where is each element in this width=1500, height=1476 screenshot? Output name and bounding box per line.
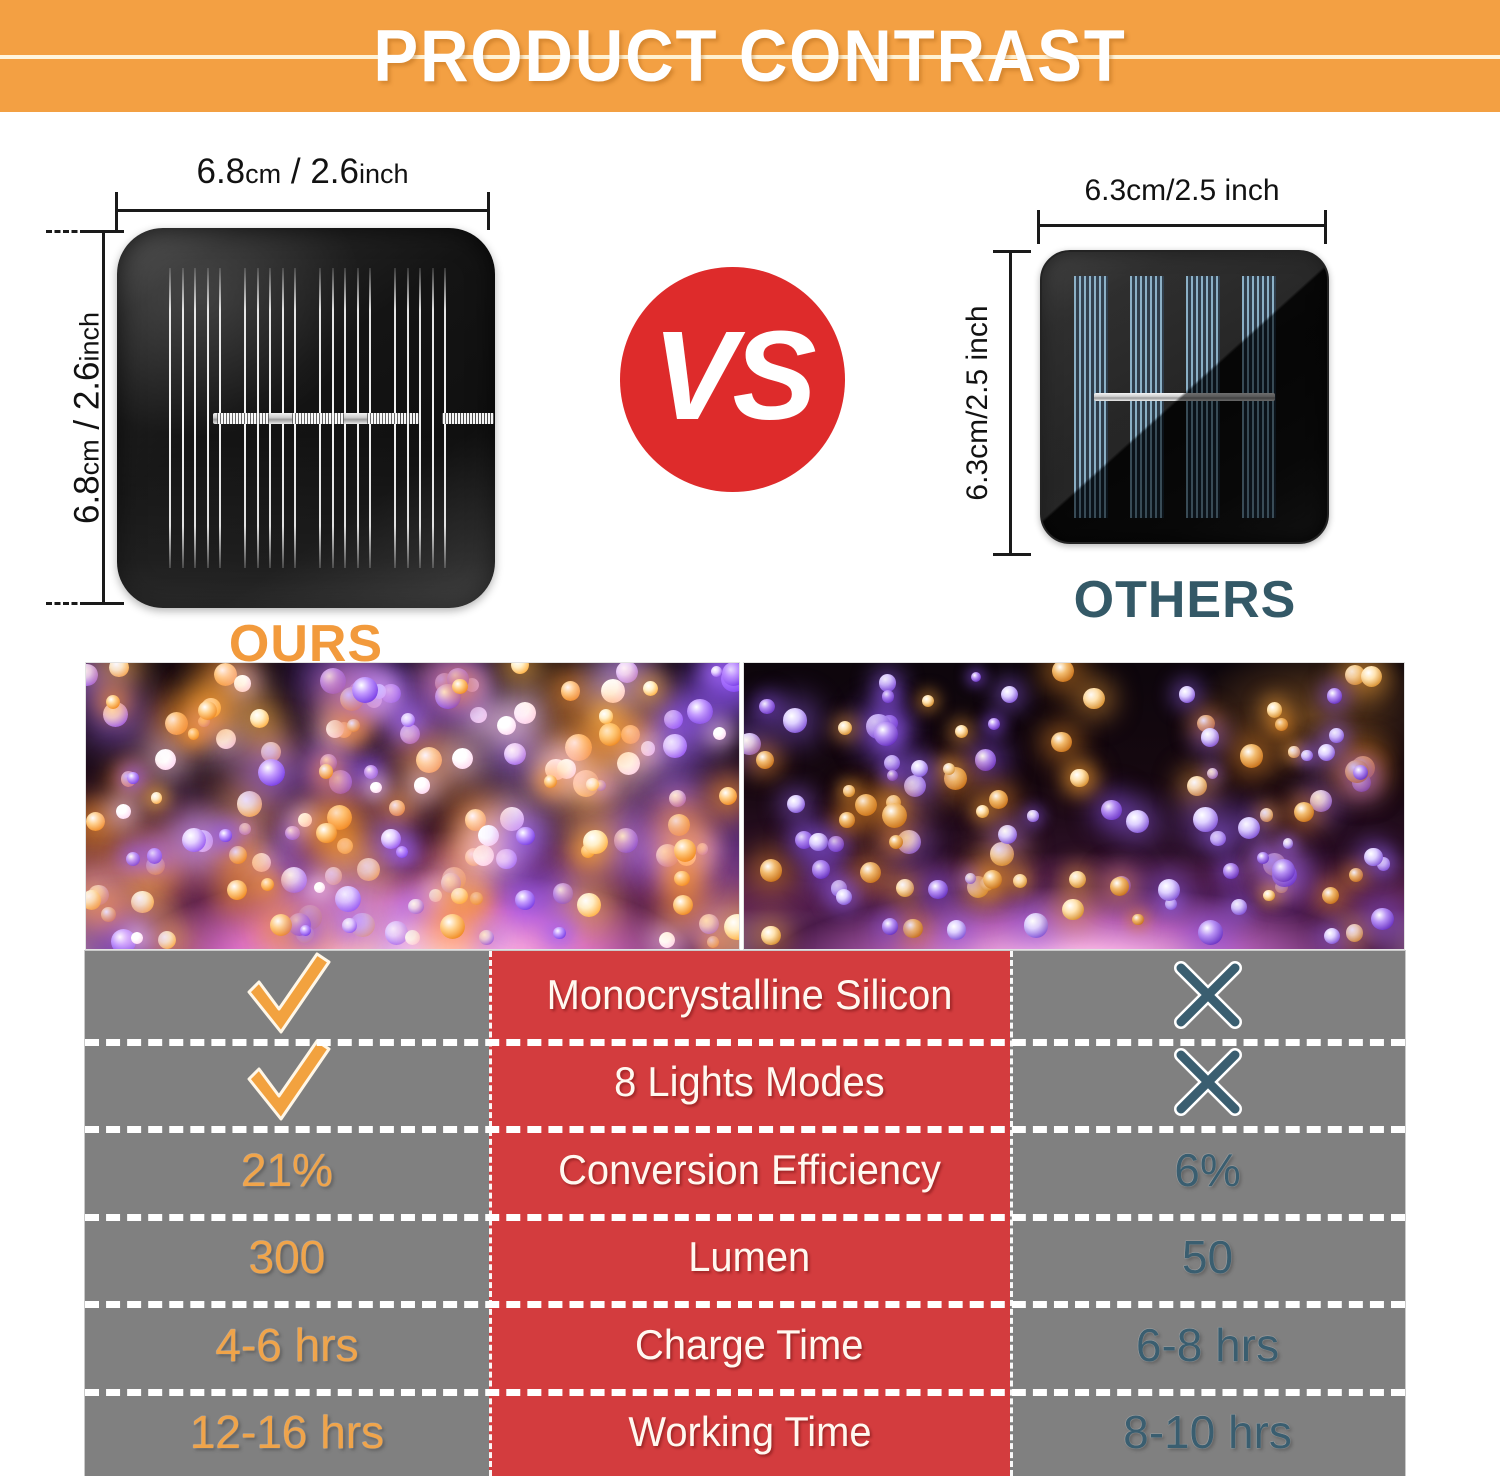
led-bulb	[1069, 871, 1086, 888]
ours-busbar	[213, 413, 399, 424]
feature-cell: 8 Lights Modes	[489, 1039, 1010, 1127]
led-bulb	[1101, 800, 1121, 820]
ours-panel-block: 6.8cm / 2.6inch 6.8cm / 2.6inch	[60, 142, 530, 662]
table-row-divider	[85, 1039, 1405, 1046]
feature-cell: Conversion Efficiency	[489, 1126, 1010, 1214]
led-bulb	[1349, 868, 1363, 882]
led-bulb	[643, 681, 658, 696]
led-bulb	[1238, 817, 1260, 839]
led-bulb	[988, 718, 1000, 730]
header-banner: PRODUCT CONTRAST	[0, 0, 1500, 112]
feature-cell: Lumen	[489, 1214, 1010, 1302]
led-bulb	[674, 839, 696, 861]
led-bulb	[335, 886, 361, 912]
others-cell	[1010, 951, 1405, 1039]
led-bulb	[904, 775, 926, 797]
table-row-divider	[85, 1214, 1405, 1221]
led-bulb	[838, 721, 852, 735]
led-bulb	[998, 825, 1017, 844]
table-row-divider	[85, 1301, 1405, 1308]
led-bulb	[452, 679, 467, 694]
led-bulb	[1062, 899, 1083, 920]
led-bulb	[812, 860, 831, 879]
led-bulb	[989, 790, 1008, 809]
ours-height-cm-unit: cm	[75, 439, 105, 475]
led-bulb	[1083, 688, 1104, 709]
led-bulb	[85, 890, 101, 910]
ours-lights-photo	[85, 662, 740, 950]
others-width-tick-right	[1324, 210, 1327, 244]
led-bulb	[707, 936, 719, 948]
ours-width-inch-unit: inch	[359, 159, 409, 189]
table-row-divider	[85, 1389, 1405, 1396]
ours-width-inch-value: 2.6	[310, 152, 359, 191]
led-bulb	[188, 728, 200, 740]
led-bulb	[557, 759, 577, 779]
led-bulb	[337, 838, 353, 854]
feature-label: Lumen	[688, 1233, 810, 1281]
led-bulb	[719, 787, 737, 805]
led-bulb	[85, 664, 98, 686]
ours-busbar-seg-4	[442, 413, 494, 424]
led-bulb	[86, 812, 105, 831]
led-bulb	[126, 852, 140, 866]
led-bulb	[1272, 859, 1295, 882]
led-bulb	[601, 679, 625, 703]
led-bulb	[281, 867, 307, 893]
led-bulb	[325, 867, 343, 885]
ours-width-slash: /	[281, 152, 310, 191]
led-bulb	[1024, 913, 1048, 937]
table-row: 4-6 hrsCharge Time6-8 hrs	[85, 1301, 1405, 1389]
led-bulb	[400, 724, 420, 744]
ours-value: 12-16 hrs	[190, 1405, 384, 1459]
led-bulb	[1267, 702, 1282, 717]
led-bulb	[990, 842, 1014, 866]
led-bulb	[1283, 838, 1293, 848]
others-cell: 8-10 hrs	[1010, 1389, 1405, 1476]
led-bulb	[1070, 769, 1089, 788]
led-bulb	[1126, 810, 1149, 833]
led-bulb	[158, 931, 176, 949]
led-bulb	[544, 775, 557, 788]
led-bulb	[229, 846, 247, 864]
led-bulb	[553, 883, 574, 904]
led-bulb	[516, 827, 535, 846]
led-bulb	[884, 755, 900, 771]
led-bulb	[1231, 899, 1246, 914]
cross-icon	[1172, 1046, 1244, 1118]
ours-width-tick-right	[487, 192, 490, 230]
led-bulb	[165, 712, 188, 735]
led-bulb	[364, 765, 379, 780]
led-bulb	[896, 879, 914, 897]
ours-busbar-seg-3	[367, 413, 419, 424]
led-bulb	[147, 848, 162, 863]
led-bulb	[216, 729, 236, 749]
led-bulb	[724, 914, 740, 940]
led-bulb	[319, 764, 333, 778]
feature-cell: Monocrystalline Silicon	[489, 951, 1010, 1039]
led-bulb	[971, 672, 981, 682]
led-bulb	[761, 926, 781, 946]
led-bulb	[155, 749, 177, 771]
led-bulb	[983, 870, 1002, 889]
others-width-tick-left	[1037, 210, 1040, 244]
led-bulb	[1327, 688, 1342, 703]
others-photo-bulbs	[744, 663, 1404, 949]
led-bulb	[227, 880, 247, 900]
ours-solar-panel	[117, 228, 495, 608]
led-bulb	[836, 889, 852, 905]
led-bulb	[342, 918, 357, 933]
led-bulb	[1027, 810, 1038, 821]
table-row: Monocrystalline Silicon	[85, 951, 1405, 1039]
others-width-line	[1037, 224, 1327, 227]
led-bulb	[809, 833, 828, 852]
led-bulb	[1052, 662, 1074, 682]
ours-cell: 21%	[85, 1126, 489, 1214]
table-row-divider	[85, 1126, 1405, 1133]
led-bulb	[381, 829, 400, 848]
led-bulb	[270, 914, 292, 936]
led-bulb	[583, 830, 607, 854]
led-bulb	[1346, 924, 1364, 942]
ours-width-dimension: 6.8cm / 2.6inch	[115, 152, 490, 230]
table-row: 12-16 hrsWorking Time8-10 hrs	[85, 1389, 1405, 1476]
led-bulb	[955, 725, 969, 739]
ours-value: 300	[249, 1230, 326, 1284]
others-value: 6%	[1174, 1143, 1240, 1197]
led-bulb	[316, 823, 337, 844]
led-bulb	[1240, 744, 1263, 767]
others-cell	[1010, 1039, 1405, 1127]
led-bulb	[1223, 863, 1239, 879]
led-bulb	[663, 734, 686, 757]
led-bulb	[860, 862, 881, 883]
led-bulb	[451, 888, 468, 905]
led-bulb	[687, 699, 712, 724]
led-bulb	[1201, 728, 1219, 746]
ours-height-dimension: 6.8cm / 2.6inch	[60, 230, 120, 605]
others-cell: 50	[1010, 1214, 1405, 1302]
others-width-dimension-label: 6.3cm/2.5 inch	[1007, 174, 1357, 208]
led-bulb	[198, 701, 217, 720]
led-bulb	[887, 770, 898, 781]
led-bulb	[697, 843, 709, 855]
led-bulb	[234, 675, 250, 691]
led-bulb	[674, 871, 689, 886]
ours-cell: 4-6 hrs	[85, 1301, 489, 1389]
others-solar-panel	[1040, 250, 1329, 544]
led-bulb	[561, 681, 580, 700]
led-bulb	[237, 791, 262, 816]
led-bulb	[515, 890, 535, 910]
led-bulb	[599, 709, 614, 724]
feature-cell: Working Time	[489, 1389, 1010, 1476]
led-bulb	[673, 895, 693, 915]
led-bulb	[416, 747, 442, 773]
led-bulb	[470, 892, 483, 905]
led-bulb	[127, 772, 138, 783]
led-bulb	[1361, 666, 1382, 687]
ours-width-tick-left	[115, 192, 118, 230]
led-bulb	[1179, 686, 1195, 702]
led-bulb	[1288, 746, 1299, 757]
feature-label: Monocrystalline Silicon	[547, 971, 953, 1019]
led-bulb	[250, 709, 269, 728]
others-height-tick-bottom	[993, 553, 1031, 556]
led-bulb	[396, 846, 408, 858]
ours-value: 4-6 hrs	[215, 1318, 358, 1372]
led-bulb	[473, 845, 494, 866]
led-bulb	[760, 859, 783, 882]
led-bulb	[109, 662, 129, 677]
led-bulb	[414, 777, 431, 794]
ours-busbar-seg-2	[292, 413, 344, 424]
led-bulb	[408, 899, 423, 914]
check-icon	[241, 1039, 333, 1125]
table-row: 8 Lights Modes	[85, 1039, 1405, 1127]
vs-badge: VS	[620, 267, 845, 492]
led-bulb	[1371, 908, 1393, 930]
feature-label: Conversion Efficiency	[558, 1146, 941, 1194]
led-bulb	[659, 932, 675, 948]
ours-value: 21%	[241, 1143, 333, 1197]
led-bulb	[440, 914, 465, 939]
led-bulb	[577, 893, 601, 917]
led-bulb	[131, 891, 153, 913]
led-bulb	[783, 708, 808, 733]
led-bulb	[514, 702, 536, 724]
led-bulb	[357, 858, 379, 880]
led-bulb	[759, 699, 775, 715]
others-busbar	[1094, 393, 1275, 401]
ours-cell	[85, 951, 489, 1039]
led-bulb	[1329, 728, 1344, 743]
led-bulb	[699, 914, 719, 934]
ours-height-slash: /	[68, 410, 107, 439]
led-bulb	[617, 752, 641, 776]
led-bulb	[1275, 718, 1288, 731]
led-bulb	[843, 785, 854, 796]
ours-photo-bulbs	[86, 663, 739, 949]
feature-label: 8 Lights Modes	[614, 1058, 885, 1106]
others-height-dimension-label: 6.3cm/2.5 inch	[961, 250, 995, 556]
others-width-dimension: 6.3cm/2.5 inch	[1037, 174, 1327, 246]
led-bulb	[314, 882, 325, 893]
led-bulb	[1294, 802, 1314, 822]
table-row: 21%Conversion Efficiency6%	[85, 1126, 1405, 1214]
others-cell: 6-8 hrs	[1010, 1301, 1405, 1389]
led-bulb	[787, 795, 805, 813]
feature-label: Charge Time	[635, 1321, 863, 1369]
ours-cell: 12-16 hrs	[85, 1389, 489, 1476]
others-value: 6-8 hrs	[1136, 1318, 1279, 1372]
led-bulb	[947, 920, 967, 940]
others-height-line	[1009, 250, 1012, 556]
others-height-tick-top	[993, 250, 1031, 253]
others-value: 50	[1182, 1230, 1233, 1284]
led-bulb	[429, 889, 442, 902]
cross-icon	[1172, 959, 1244, 1031]
led-bulb	[405, 930, 420, 945]
others-lights-photo	[743, 662, 1405, 950]
ours-height-inch-value: 2.6	[68, 362, 107, 411]
ours-width-cm-value: 6.8	[196, 152, 245, 191]
ours-cell: 300	[85, 1214, 489, 1302]
led-bulb	[668, 814, 690, 836]
feature-label: Working Time	[628, 1408, 871, 1456]
led-bulb	[1364, 848, 1382, 866]
led-bulb	[258, 759, 285, 786]
led-bulb	[285, 826, 299, 840]
led-bulb	[116, 804, 131, 819]
led-bulb	[347, 719, 360, 732]
feature-cell: Charge Time	[489, 1301, 1010, 1389]
led-bulb	[1051, 732, 1072, 753]
led-bulb	[903, 919, 922, 938]
ours-width-dimension-label: 6.8cm / 2.6inch	[115, 152, 490, 192]
led-bulb	[1263, 890, 1275, 902]
led-bulb	[975, 749, 996, 770]
led-bulb	[614, 828, 638, 852]
led-bulb	[882, 690, 894, 702]
led-bulb	[470, 707, 487, 724]
led-bulb	[504, 743, 526, 765]
led-bulb	[101, 907, 116, 922]
ours-width-line	[115, 209, 490, 212]
led-bulb	[496, 849, 516, 869]
led-bulb	[713, 727, 726, 740]
others-panel-cells	[1070, 276, 1299, 518]
vs-label: VS	[652, 303, 812, 448]
others-cell: 6%	[1010, 1126, 1405, 1214]
led-bulb	[479, 930, 494, 945]
led-bulb	[599, 723, 622, 746]
led-bulb	[239, 823, 251, 835]
led-bulb	[1193, 807, 1218, 832]
led-bulb	[922, 695, 934, 707]
led-bulb	[565, 734, 592, 761]
led-bulb	[756, 751, 774, 769]
ours-height-inch-unit: inch	[75, 312, 105, 362]
led-bulb	[586, 778, 599, 791]
led-bulb	[553, 927, 566, 940]
led-bulb	[497, 716, 517, 736]
led-bulb	[669, 790, 686, 807]
led-bulb	[478, 825, 499, 846]
photo-strip	[85, 662, 1405, 950]
led-bulb	[874, 722, 898, 746]
led-bulb	[401, 713, 415, 727]
led-bulb	[1013, 874, 1027, 888]
ours-width-cm-unit: cm	[245, 159, 281, 189]
led-bulb	[261, 878, 274, 891]
others-panel-block: 6.3cm/2.5 inch 6.3cm/2.5 inch OTHERS	[965, 174, 1395, 664]
led-bulb	[298, 813, 312, 827]
led-bulb	[352, 677, 378, 703]
led-bulb	[1187, 776, 1207, 796]
led-bulb	[641, 741, 656, 756]
led-bulb	[828, 836, 843, 851]
page-title: PRODUCT CONTRAST	[60, 0, 1440, 112]
led-bulb	[928, 880, 948, 900]
led-bulb	[389, 800, 404, 815]
led-bulb	[1158, 879, 1180, 901]
ours-cell	[85, 1039, 489, 1127]
panel-comparison-area: 6.8cm / 2.6inch 6.8cm / 2.6inch	[0, 112, 1500, 662]
led-bulb	[621, 725, 640, 744]
check-icon	[241, 952, 333, 1038]
led-bulb	[1318, 744, 1335, 761]
led-bulb	[976, 805, 989, 818]
ours-panel-cells	[169, 268, 443, 568]
led-bulb	[1001, 686, 1018, 703]
led-bulb	[131, 932, 143, 944]
led-bulb	[1207, 768, 1218, 779]
led-bulb	[711, 666, 722, 677]
led-bulb	[1301, 750, 1313, 762]
others-height-dimension: 6.3cm/2.5 inch	[965, 250, 1037, 556]
led-bulb	[911, 760, 928, 777]
led-bulb	[151, 792, 162, 803]
led-bulb	[511, 662, 529, 674]
led-bulb	[1322, 887, 1339, 904]
led-bulb	[882, 918, 898, 934]
others-label: OTHERS	[1010, 570, 1360, 630]
led-bulb	[1132, 914, 1143, 925]
led-bulb	[1198, 920, 1223, 945]
led-bulb	[182, 828, 206, 852]
comparison-table: Monocrystalline Silicon8 Lights Modes21%…	[85, 951, 1405, 1476]
led-bulb	[1260, 808, 1273, 821]
led-bulb	[839, 812, 855, 828]
led-bulb	[965, 873, 976, 884]
table-row: 300Lumen50	[85, 1214, 1405, 1302]
others-value: 8-10 hrs	[1123, 1405, 1292, 1459]
led-bulb	[219, 829, 231, 841]
led-bulb	[664, 710, 683, 729]
led-bulb	[1210, 831, 1225, 846]
led-bulb	[252, 853, 271, 872]
led-bulb	[452, 748, 473, 769]
ours-height-cm-value: 6.8	[68, 475, 107, 524]
led-bulb	[1324, 928, 1340, 944]
ours-busbar-seg-1	[217, 413, 269, 424]
ours-height-dimension-label: 6.8cm / 2.6inch	[68, 231, 108, 606]
led-bulb	[855, 794, 877, 816]
led-bulb	[370, 782, 381, 793]
led-bulb	[882, 803, 907, 828]
led-bulb	[722, 662, 740, 686]
led-bulb	[743, 733, 761, 755]
